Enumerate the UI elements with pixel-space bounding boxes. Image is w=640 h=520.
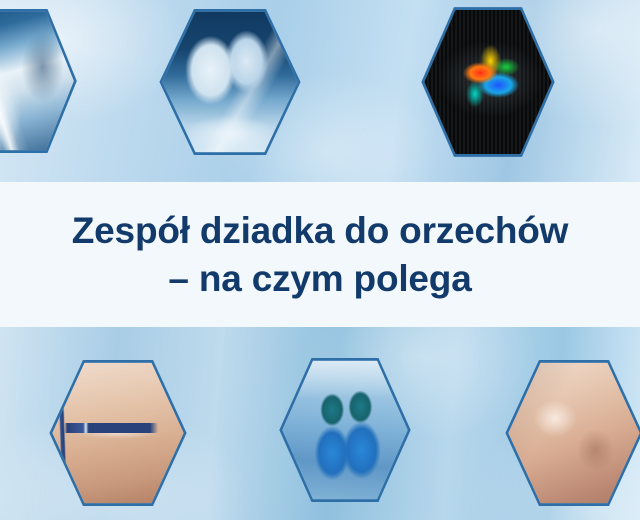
poster-title-line-1: Zespół dziadka do orzechów (72, 207, 568, 254)
poster-title-line-2: – na czym polega (168, 255, 471, 302)
poster-title: Zespół dziadka do orzechów – na czym pol… (0, 182, 640, 327)
poster-image: Zespół dziadka do orzechów – na czym pol… (0, 0, 640, 520)
